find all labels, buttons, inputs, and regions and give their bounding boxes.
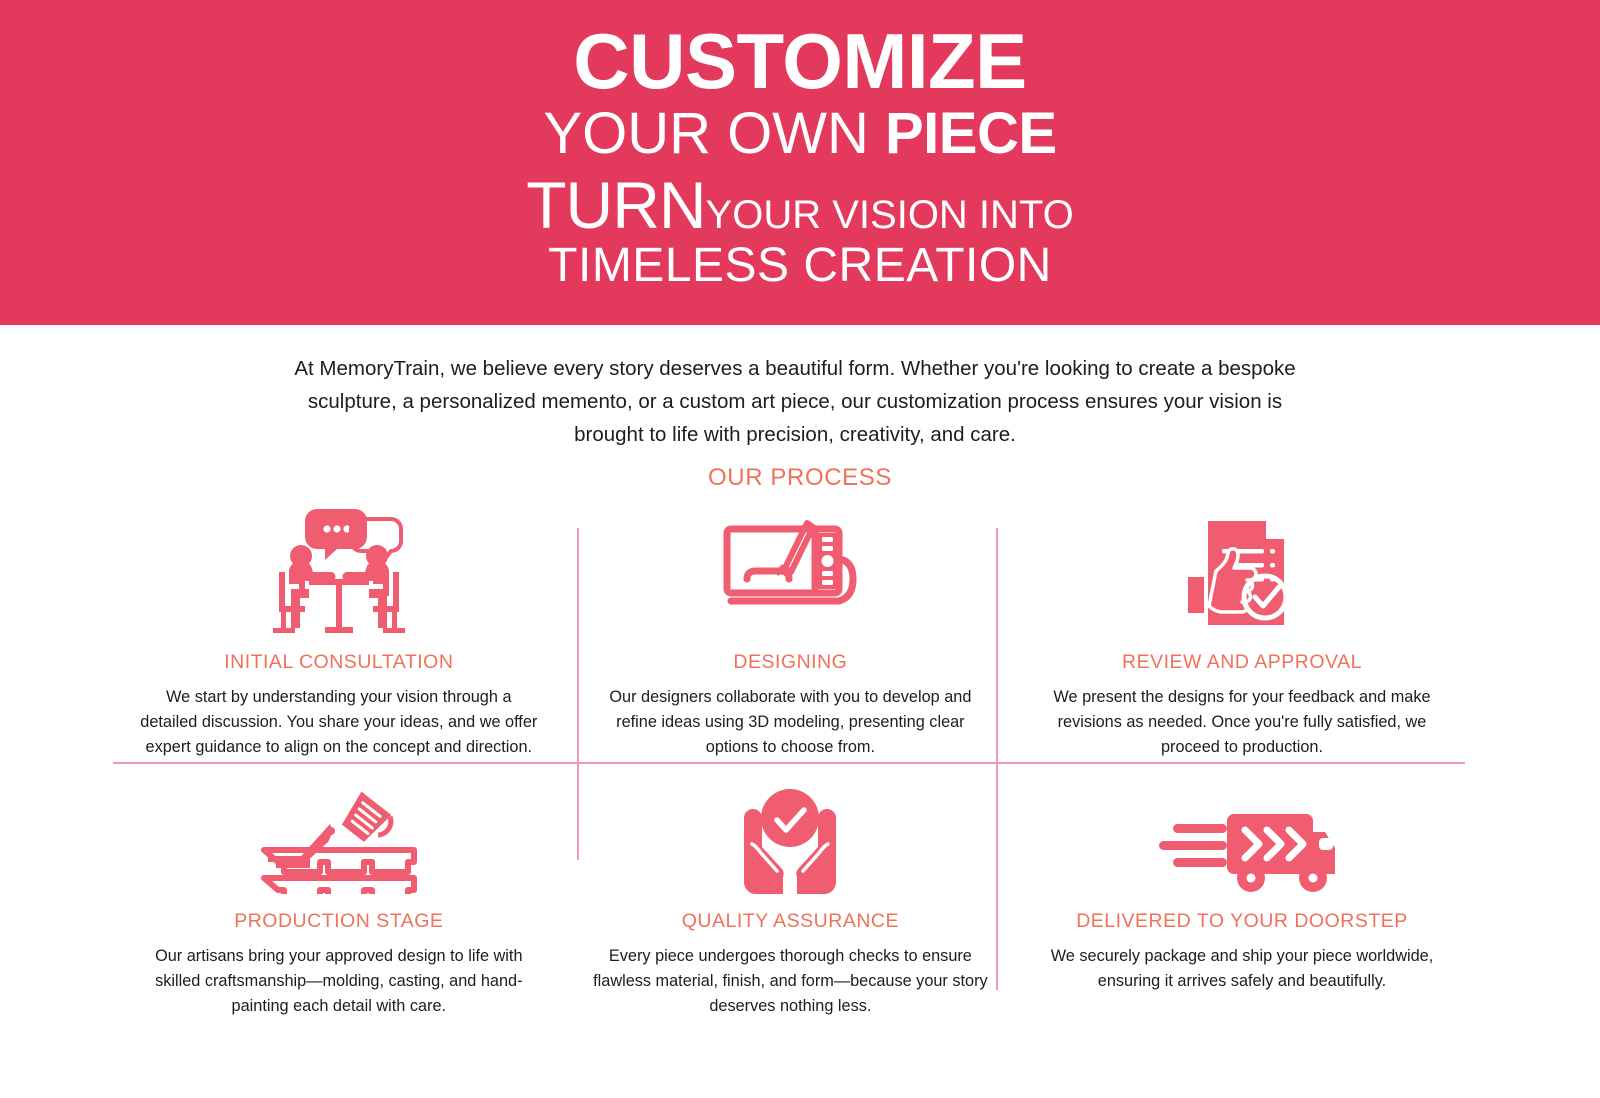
process-step-body: Our artisans bring your approved design … — [127, 944, 551, 1019]
hero-text-block: CUSTOMIZE YOUR OWN PIECE TURNYOUR VISION… — [0, 22, 1600, 290]
casting-mold-pour-icon — [127, 762, 551, 894]
process-step-title: INITIAL CONSULTATION — [127, 651, 551, 674]
process-step-body: Every piece undergoes thorough checks to… — [579, 944, 1003, 1019]
process-step-quality-assurance: QUALITY ASSURANCE Every piece undergoes … — [565, 762, 1017, 1025]
process-step-title: DELIVERED TO YOUR DOORSTEP — [1030, 910, 1454, 933]
process-step-delivered-doorstep: DELIVERED TO YOUR DOORSTEP We securely p… — [1016, 762, 1468, 1025]
process-step-review-approval: REVIEW AND APPROVAL We present the desig… — [1016, 505, 1468, 762]
hero-banner: CUSTOMIZE YOUR OWN PIECE TURNYOUR VISION… — [0, 0, 1600, 325]
hero-headline-tertiary: TURNYOUR VISION INTO — [0, 171, 1600, 240]
process-step-designing: DESIGNING Our designers collaborate with… — [565, 505, 1017, 762]
hero-line2-bold: PIECE — [885, 101, 1057, 166]
delivery-truck-icon — [1030, 762, 1454, 894]
hero-headline-secondary: YOUR OWN PIECE — [0, 104, 1600, 165]
hero-line2-thin: YOUR OWN — [543, 101, 885, 166]
hero-line3-small: YOUR VISION INTO — [706, 193, 1074, 237]
hands-holding-check-icon — [579, 762, 1003, 894]
process-step-title: PRODUCTION STAGE — [127, 910, 551, 933]
process-step-title: REVIEW AND APPROVAL — [1030, 651, 1454, 674]
hero-headline-quaternary: TIMELESS CREATION — [0, 242, 1600, 290]
process-step-body: We present the designs for your feedback… — [1030, 685, 1454, 760]
process-steps-grid: INITIAL CONSULTATION We start by underst… — [113, 505, 1468, 1025]
document-thumbs-up-check-icon — [1030, 505, 1454, 635]
process-section-heading: OUR PROCESS — [0, 464, 1600, 492]
process-step-title: DESIGNING — [579, 651, 1003, 674]
process-step-initial-consultation: INITIAL CONSULTATION We start by underst… — [113, 505, 565, 762]
hero-headline-primary: CUSTOMIZE — [0, 22, 1600, 100]
drawing-tablet-stylus-icon — [579, 505, 1003, 635]
intro-paragraph: At MemoryTrain, we believe every story d… — [290, 352, 1300, 451]
consultation-meeting-icon — [127, 505, 551, 635]
process-step-production-stage: PRODUCTION STAGE Our artisans bring your… — [113, 762, 565, 1025]
process-step-body: Our designers collaborate with you to de… — [579, 685, 1003, 760]
process-step-body: We start by understanding your vision th… — [127, 685, 551, 760]
process-step-title: QUALITY ASSURANCE — [579, 910, 1003, 933]
process-row-top: INITIAL CONSULTATION We start by underst… — [113, 505, 1468, 762]
process-step-body: We securely package and ship your piece … — [1030, 944, 1454, 994]
hero-line3-big: TURN — [526, 168, 705, 242]
infographic-page: CUSTOMIZE YOUR OWN PIECE TURNYOUR VISION… — [0, 0, 1600, 1098]
process-row-bottom: PRODUCTION STAGE Our artisans bring your… — [113, 762, 1468, 1025]
